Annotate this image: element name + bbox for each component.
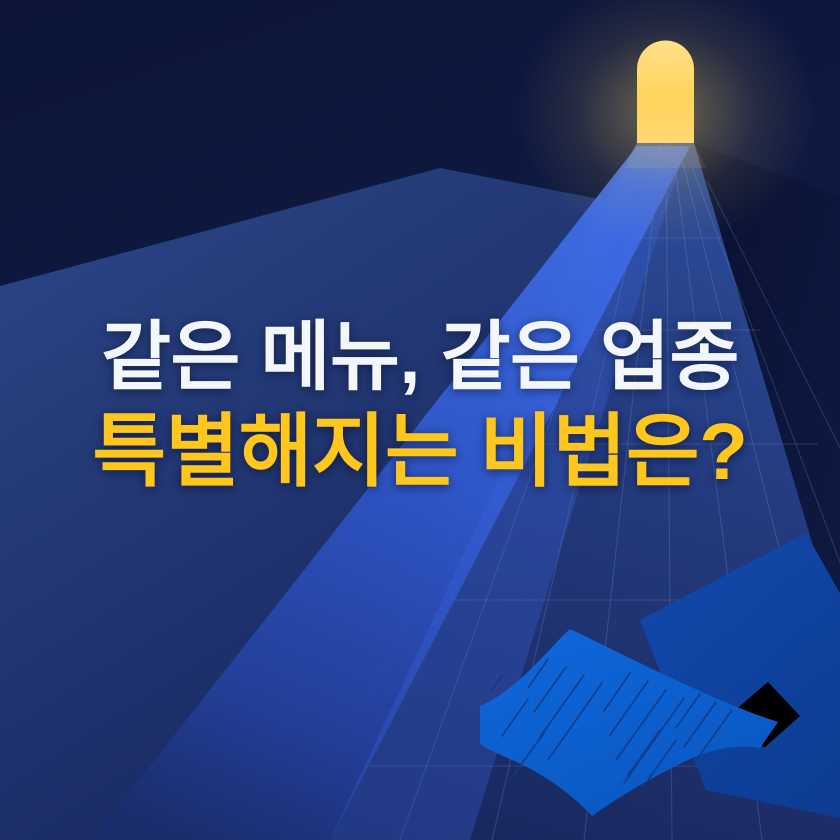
poster-canvas: 같은 메뉴, 같은 업종 특별해지는 비법은? <box>0 0 840 840</box>
door-light-pool <box>625 143 706 168</box>
scene-artwork <box>0 0 840 840</box>
glowing-doorway <box>637 41 694 144</box>
